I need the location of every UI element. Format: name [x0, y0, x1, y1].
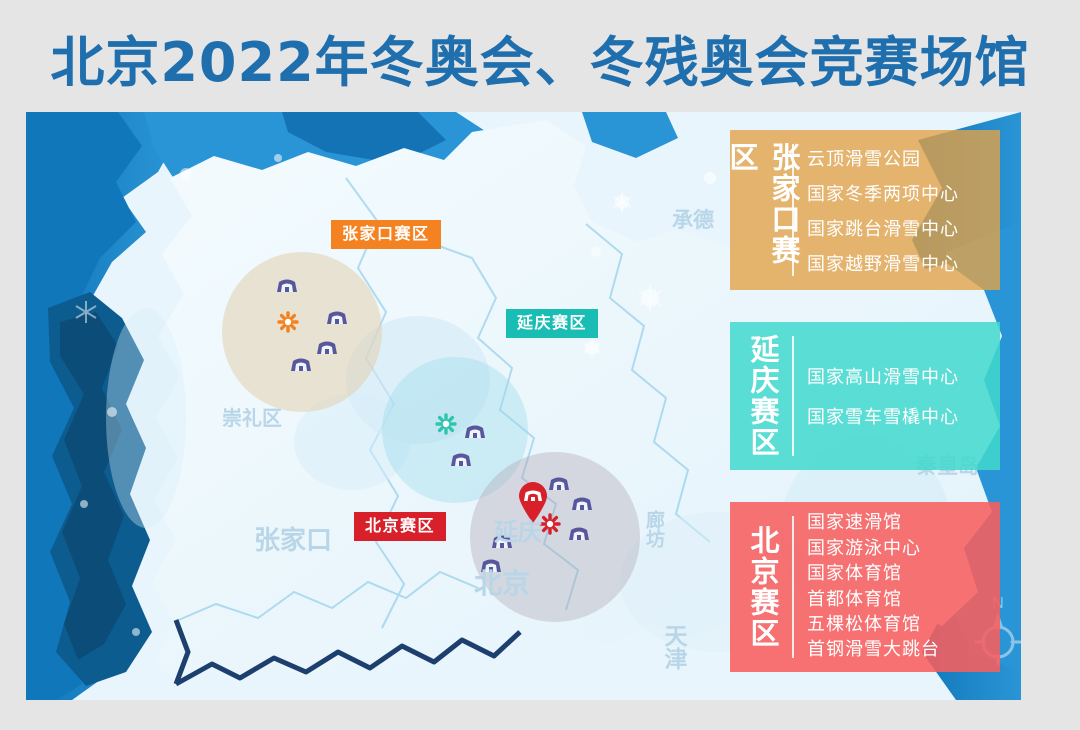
venue-marker-icon[interactable] [314, 338, 340, 358]
venue-item[interactable]: 首都体育馆 [807, 588, 902, 612]
venue-marker-icon[interactable] [569, 494, 595, 514]
panel-zhangjiakou[interactable]: 张家口赛区 云顶滑雪公园 国家冬季两项中心 国家跳台滑雪中心 国家越野滑雪中心 [730, 130, 1000, 290]
venue-marker-icon[interactable] [462, 422, 488, 442]
venue-item[interactable]: 首钢滑雪大跳台 [807, 638, 940, 662]
infographic-root: 北京2022年冬奥会、冬残奥会竞赛场馆 [0, 0, 1080, 730]
venue-item[interactable]: 国家冬季两项中心 [807, 180, 959, 206]
panel-divider [792, 336, 794, 456]
venue-item[interactable]: 国家跳台滑雪中心 [807, 215, 959, 241]
venue-item[interactable]: 国家越野滑雪中心 [807, 250, 959, 276]
venue-item[interactable]: 国家速滑馆 [807, 511, 902, 535]
snowflake-icon-beijing [538, 512, 562, 536]
venue-item[interactable]: 国家游泳中心 [807, 537, 921, 561]
panel-title-zhangjiakou: 张家口赛区 [740, 140, 786, 280]
title-bar: 北京2022年冬奥会、冬残奥会竞赛场馆 [0, 10, 1080, 105]
venue-marker-icon[interactable] [489, 532, 515, 552]
venue-item[interactable]: 国家体育馆 [807, 562, 902, 586]
venue-marker-icon[interactable] [288, 355, 314, 375]
panel-divider [792, 144, 794, 276]
venue-list-yanqing: 国家高山滑雪中心 国家雪车雪橇中心 [807, 332, 986, 460]
venue-item[interactable]: 五棵松体育馆 [807, 613, 921, 637]
panel-beijing[interactable]: 北京赛区 国家速滑馆 国家游泳中心 国家体育馆 首都体育馆 五棵松体育馆 首钢滑… [730, 502, 1000, 672]
panel-title-yanqing: 延庆赛区 [740, 332, 786, 460]
panel-yanqing[interactable]: 延庆赛区 国家高山滑雪中心 国家雪车雪橇中心 [730, 322, 1000, 470]
venue-marker-icon[interactable] [566, 524, 592, 544]
venue-item[interactable]: 云顶滑雪公园 [807, 145, 921, 171]
panel-divider [792, 516, 794, 658]
venue-item[interactable]: 国家高山滑雪中心 [807, 363, 959, 389]
zone-circle-zhangjiakou [222, 252, 382, 412]
zone-badge-beijing[interactable]: 北京赛区 [354, 512, 446, 541]
venue-marker-icon[interactable] [274, 276, 300, 296]
venue-marker-icon[interactable] [448, 450, 474, 470]
venue-list-zhangjiakou: 云顶滑雪公园 国家冬季两项中心 国家跳台滑雪中心 国家越野滑雪中心 [807, 140, 986, 280]
snowflake-icon-zhangjiakou [276, 310, 300, 334]
venue-marker-icon[interactable] [478, 556, 504, 576]
venue-item[interactable]: 国家雪车雪橇中心 [807, 403, 959, 429]
zone-badge-zhangjiakou[interactable]: 张家口赛区 [331, 220, 441, 249]
panel-title-beijing: 北京赛区 [740, 512, 786, 662]
venue-marker-icon[interactable] [324, 308, 350, 328]
snowflake-icon-yanqing [434, 412, 458, 436]
venue-list-beijing: 国家速滑馆 国家游泳中心 国家体育馆 首都体育馆 五棵松体育馆 首钢滑雪大跳台 [807, 512, 986, 662]
zone-badge-yanqing[interactable]: 延庆赛区 [506, 309, 598, 338]
page-title: 北京2022年冬奥会、冬残奥会竞赛场馆 [50, 18, 1029, 97]
